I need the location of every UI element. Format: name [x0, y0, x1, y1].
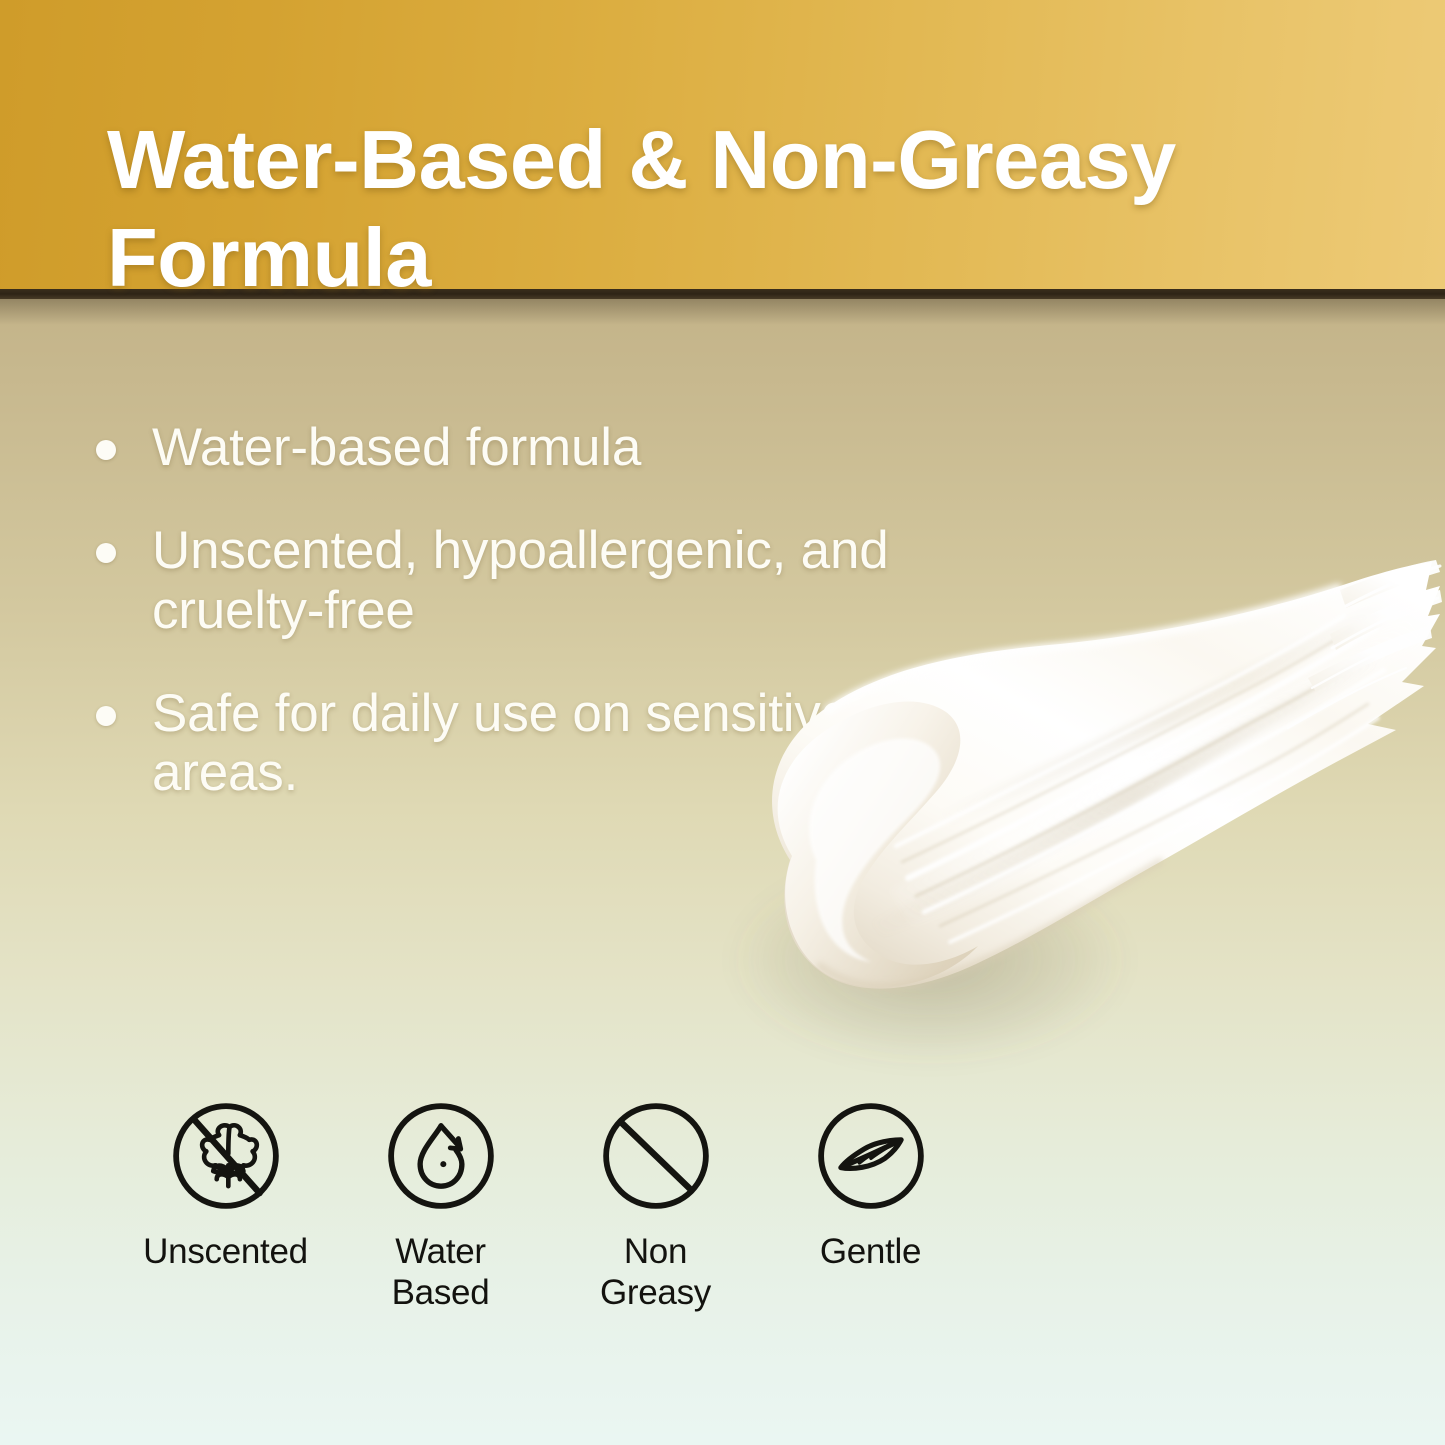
badge-gentle: Gentle	[763, 1098, 978, 1272]
bullet-dot-icon	[96, 543, 116, 563]
badge-label: Gentle	[820, 1231, 921, 1272]
product-infographic: Water-Based & Non-Greasy Formula Water-b…	[0, 0, 1445, 1445]
badge-label: Water Based	[392, 1231, 490, 1314]
badge-label: Unscented	[143, 1231, 308, 1272]
bullet-dot-icon	[96, 706, 116, 726]
water-droplet-recycle-icon	[383, 1098, 499, 1214]
feature-text: Safe for daily use on sensitive areas.	[152, 684, 912, 803]
badge-water-based: Water Based	[333, 1098, 548, 1314]
bullet-dot-icon	[96, 440, 116, 460]
badge-non-greasy: Non Greasy	[548, 1098, 763, 1314]
badge-label: Non Greasy	[600, 1231, 711, 1314]
list-item: Water-based formula	[96, 418, 916, 477]
list-item: Safe for daily use on sensitive areas.	[96, 684, 916, 803]
feature-text: Water-based formula	[152, 418, 641, 477]
feature-list: Water-based formula Unscented, hypoaller…	[96, 418, 916, 847]
badge-unscented: Unscented	[118, 1098, 333, 1272]
leaf-feather-icon	[813, 1098, 929, 1214]
cotton-flower-crossed-out-icon	[168, 1098, 284, 1214]
list-item: Unscented, hypoallergenic, and cruelty-f…	[96, 521, 916, 640]
feature-text: Unscented, hypoallergenic, and cruelty-f…	[152, 521, 912, 640]
badge-row: Unscented Water Based	[118, 1098, 978, 1314]
prohibition-slash-icon	[598, 1098, 714, 1214]
page-title: Water-Based & Non-Greasy Formula	[107, 111, 1357, 307]
